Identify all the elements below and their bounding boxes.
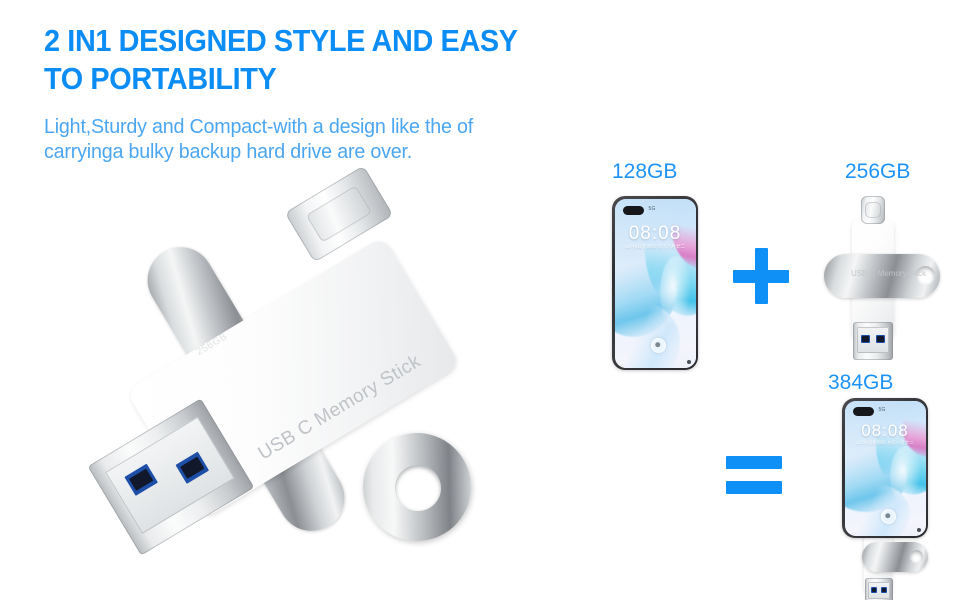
small-usb-c-inner — [865, 202, 880, 218]
plus-bar-vertical — [755, 248, 768, 304]
usb-c-inner — [305, 185, 372, 243]
small-usb-a-pin — [861, 335, 870, 343]
phone-128gb: 5G 08:08 10月8日星期四 农历八月廿二 — [612, 196, 698, 370]
capacity-label-drive: 256GB — [845, 160, 910, 184]
capacity-label-phone: 128GB — [612, 160, 677, 184]
result-keyring-hole — [910, 550, 923, 563]
result-phone-with-drive: 5G 08:08 10月8日星期四 农历八月廿二 — [820, 398, 950, 598]
lock-screen-clock: 08:08 — [615, 223, 696, 245]
page-title: 2 IN1 DESIGNED STYLE AND EASY TO PORTABI… — [44, 22, 658, 98]
result-phone-screen: 5G 08:08 10月8日星期四 农历八月廿二 — [845, 401, 926, 536]
front-camera-punch-hole — [623, 206, 644, 215]
equals-operator-icon — [726, 455, 782, 495]
equals-bar-bottom — [726, 481, 782, 494]
keyring-hole — [395, 465, 441, 511]
page-subtitle: Light,Sturdy and Compact-with a design l… — [44, 114, 620, 164]
phone-screen: 5G 08:08 10月8日星期四 农历八月廿二 — [615, 199, 696, 368]
lock-screen-clock: 08:08 — [845, 421, 926, 441]
capacity-label-result: 384GB — [828, 371, 893, 395]
result-attached-drive — [820, 528, 950, 598]
lock-screen-date: 10月8日星期四 农历八月廿二 — [845, 440, 926, 446]
front-camera-punch-hole — [853, 407, 874, 416]
fingerprint-unlock-icon[interactable] — [651, 338, 666, 353]
product-marketing-banner: 2 IN1 DESIGNED STYLE AND EASY TO PORTABI… — [0, 0, 970, 600]
hero-usb-drive: 256GB USB C Memory Stick — [95, 175, 535, 575]
plus-operator-icon — [733, 248, 789, 304]
small-usb-drive: USB C Memory Stick — [820, 192, 950, 372]
fingerprint-unlock-icon[interactable] — [881, 509, 896, 524]
small-usb-a-connector — [853, 322, 893, 360]
phone-384gb: 5G 08:08 10月8日星期四 农历八月廿二 — [842, 398, 928, 538]
bottom-sensor-dot — [917, 528, 921, 532]
result-usb-a-connector — [865, 578, 893, 600]
status-bar-signal: 5G — [879, 408, 886, 413]
small-usb-a-pin — [876, 335, 885, 343]
lock-screen-date: 10月8日星期四 农历八月廿二 — [615, 244, 696, 250]
small-usb-c-connector — [861, 196, 885, 224]
small-drive-body-print: USB C Memory Stick — [851, 269, 926, 278]
wallpaper-highlight — [890, 446, 922, 505]
bottom-sensor-dot — [687, 360, 691, 364]
usb-a-tongue — [105, 417, 235, 534]
equals-bar-top — [726, 456, 782, 469]
result-usb-a-pin — [881, 587, 887, 593]
result-usb-a-pin — [871, 587, 877, 593]
status-bar-signal: 5G — [649, 207, 656, 212]
